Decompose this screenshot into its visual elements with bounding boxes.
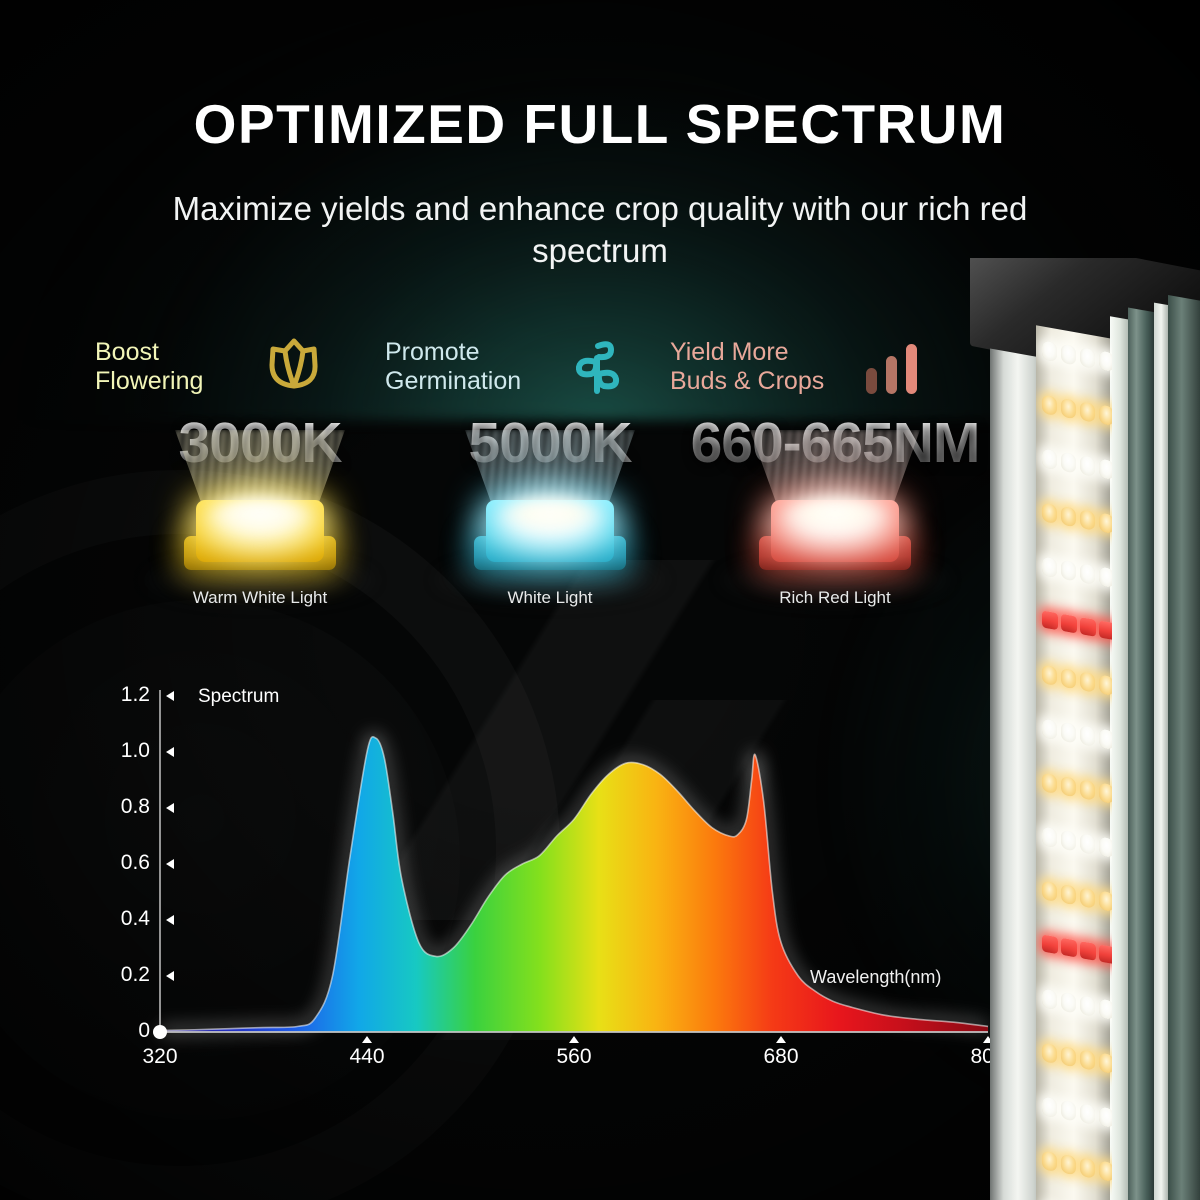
led-white (1061, 1100, 1076, 1122)
led-warm-white (1042, 880, 1057, 902)
led-white (1080, 833, 1095, 855)
feature-title: Boost Flowering (95, 338, 203, 395)
green-housing-strip-right (1168, 295, 1200, 1200)
led-warm-white (1061, 1046, 1076, 1068)
led-warm-white (1099, 890, 1112, 912)
led-white (1080, 347, 1095, 369)
reflector-edge (1110, 316, 1130, 1200)
led-white (1061, 344, 1076, 366)
led-warm-white (1099, 512, 1112, 534)
chip-emitter (498, 498, 602, 532)
feature-title: Promote Germination (385, 338, 521, 395)
led-white (1099, 566, 1112, 588)
green-housing-strip (1128, 308, 1156, 1200)
feature-title-line2: Flowering (95, 367, 203, 395)
spectrum-plot (120, 690, 1000, 1090)
spectrum-chart: Spectrum Wavelength(nm) 00.20.40.60.81.0… (120, 690, 1000, 1090)
led-warm-white (1080, 1049, 1095, 1071)
led-warm-white (1080, 509, 1095, 531)
led-white (1099, 728, 1112, 750)
led-white (1042, 988, 1057, 1010)
led-red (1099, 944, 1112, 964)
feature-caption: Warm White Light (95, 588, 425, 608)
led-white (1042, 826, 1057, 848)
led-white (1061, 452, 1076, 474)
led-chip-warm-white (165, 478, 355, 588)
sprout-icon (567, 336, 625, 401)
led-warm-white (1099, 1052, 1112, 1074)
feature-caption: White Light (385, 588, 715, 608)
flower-icon (263, 334, 325, 397)
led-white (1042, 448, 1057, 470)
led-chip-white (455, 478, 645, 588)
led-warm-white (1061, 506, 1076, 528)
chip-emitter (783, 498, 887, 532)
led-white (1099, 350, 1112, 372)
led-white (1080, 563, 1095, 585)
feature-title-line2: Buds & Crops (670, 367, 824, 395)
page-subtitle: Maximize yields and enhance crop quality… (140, 188, 1060, 272)
led-warm-white (1061, 1154, 1076, 1176)
chip-emitter (208, 498, 312, 532)
led-red (1080, 941, 1096, 961)
led-white (1061, 992, 1076, 1014)
feature-title-line2: Germination (385, 367, 521, 395)
led-warm-white (1042, 772, 1057, 794)
led-red (1042, 934, 1058, 954)
led-white (1099, 836, 1112, 858)
led-warm-white (1099, 674, 1112, 696)
led-warm-white (1061, 398, 1076, 420)
led-white (1061, 722, 1076, 744)
feature-header: Yield More Buds & Crops (670, 338, 1000, 400)
led-white (1080, 995, 1095, 1017)
led-red (1061, 614, 1077, 634)
led-white (1080, 455, 1095, 477)
feature-yield-more-buds: Yield More Buds & Crops 660-665NM Rich R… (670, 338, 1000, 608)
led-white (1042, 1096, 1057, 1118)
feature-header: Boost Flowering (95, 338, 425, 400)
led-red (1080, 617, 1096, 637)
feature-caption: Rich Red Light (670, 588, 1000, 608)
led-red (1061, 938, 1077, 958)
led-warm-white (1080, 671, 1095, 693)
led-warm-white (1099, 404, 1112, 426)
led-warm-white (1080, 1157, 1095, 1179)
led-warm-white (1080, 779, 1095, 801)
origin-dot (153, 1025, 167, 1039)
feature-boost-flowering: Boost Flowering 3000K Warm White Light (95, 338, 425, 608)
led-warm-white (1042, 1042, 1057, 1064)
led-white (1061, 830, 1076, 852)
led-warm-white (1042, 664, 1057, 686)
led-warm-white (1099, 782, 1112, 804)
feature-header: Promote Germination (385, 338, 715, 400)
page-title: OPTIMIZED FULL SPECTRUM (0, 92, 1200, 156)
led-warm-white (1080, 401, 1095, 423)
led-grow-light-bar (960, 258, 1200, 1200)
feature-title-line1: Boost (95, 338, 159, 366)
feature-title-line1: Yield More (670, 338, 789, 366)
led-warm-white (1061, 776, 1076, 798)
led-white (1042, 718, 1057, 740)
led-white (1061, 560, 1076, 582)
led-warm-white (1061, 668, 1076, 690)
led-white (1080, 725, 1095, 747)
feature-title-line1: Promote (385, 338, 479, 366)
led-white (1042, 556, 1057, 578)
led-white (1080, 1103, 1095, 1125)
led-warm-white (1099, 1160, 1112, 1182)
led-array (1036, 325, 1112, 1200)
led-warm-white (1042, 502, 1057, 524)
led-white (1099, 1106, 1112, 1128)
led-warm-white (1042, 1150, 1057, 1172)
led-warm-white (1042, 394, 1057, 416)
feature-title: Yield More Buds & Crops (670, 338, 824, 395)
led-warm-white (1061, 884, 1076, 906)
led-red (1042, 610, 1058, 630)
led-warm-white (1080, 887, 1095, 909)
bars-icon (862, 340, 922, 401)
led-white (1099, 998, 1112, 1020)
led-white (1099, 458, 1112, 480)
feature-promote-germination: Promote Germination 5000K White Light (385, 338, 715, 608)
led-white (1042, 340, 1057, 362)
led-chip-red (740, 478, 930, 588)
led-red (1099, 620, 1112, 640)
